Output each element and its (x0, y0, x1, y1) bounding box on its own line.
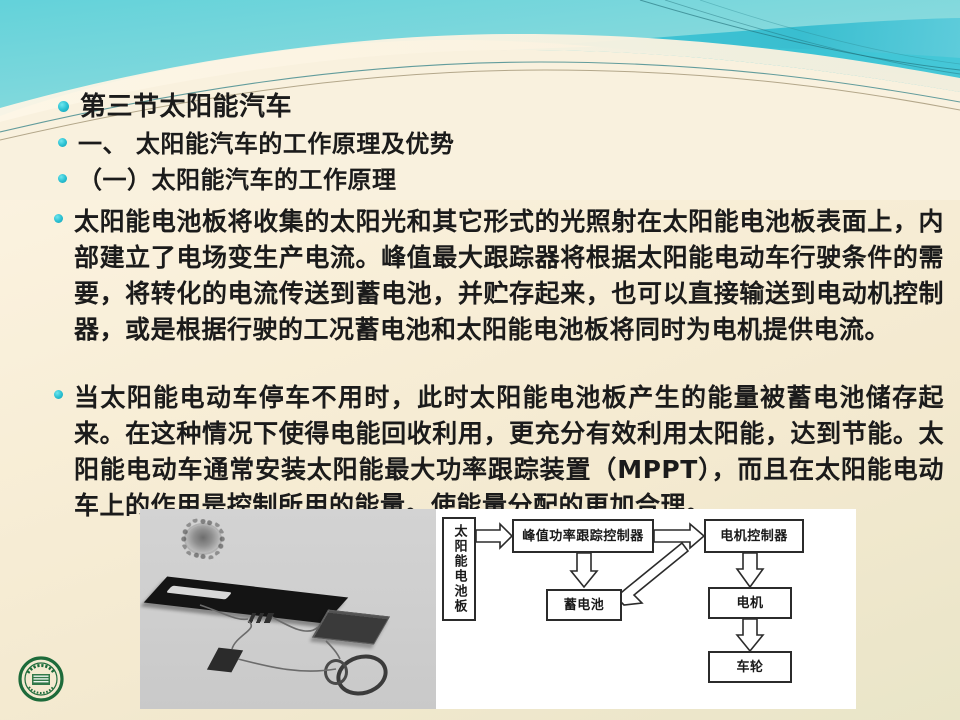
body-paragraph-1: 太阳能电池板将收集的太阳光和其它形式的光照射在太阳能电池板表面上，内部建立了电场… (74, 204, 944, 348)
title-bullet-row: 第三节太阳能汽车 (58, 90, 758, 124)
paragraph-2-bullet-row: 当太阳能电动车停车不用时，此时太阳能电池板产生的能量被蓄电池储存起来。在这种情况… (54, 380, 944, 524)
flow-node-wheel: 车轮 (708, 651, 792, 683)
bullet-dot-icon (58, 174, 67, 183)
university-seal-logo (18, 656, 64, 702)
flow-node-motor-controller: 电机控制器 (704, 519, 804, 553)
subtitle-level-1: 一、 太阳能汽车的工作原理及优势 (78, 128, 454, 160)
body-paragraph-2: 当太阳能电动车停车不用时，此时太阳能电池板产生的能量被蓄电池储存起来。在这种情况… (74, 380, 944, 524)
flow-node-solar-panel: 太阳能电池板 (442, 517, 476, 621)
page-title: 第三节太阳能汽车 (80, 90, 292, 124)
slide-content: 第三节太阳能汽车 一、 太阳能汽车的工作原理及优势 （一）太阳能汽车的工作原理 … (0, 0, 960, 720)
flow-node-battery: 蓄电池 (546, 589, 622, 621)
flow-node-motor: 电机 (708, 587, 792, 619)
bullet-dot-icon (54, 390, 63, 399)
bullet-dot-icon (58, 138, 67, 147)
subtitle-2-bullet-row: （一）太阳能汽车的工作原理 (58, 164, 918, 196)
slide-canvas: 第三节太阳能汽车 一、 太阳能汽车的工作原理及优势 （一）太阳能汽车的工作原理 … (0, 0, 960, 720)
solar-car-photo (140, 509, 436, 709)
figure-container: 太阳能电池板 峰值功率跟踪控制器 电机控制器 蓄电池 电机 车轮 (140, 509, 856, 709)
photo-wiring (140, 509, 436, 709)
paragraph-1-bullet-row: 太阳能电池板将收集的太阳光和其它形式的光照射在太阳能电池板表面上，内部建立了电场… (54, 204, 944, 348)
subtitle-1-bullet-row: 一、 太阳能汽车的工作原理及优势 (58, 128, 918, 160)
bullet-dot-icon (58, 101, 69, 112)
bullet-dot-icon (54, 214, 63, 223)
system-flowchart: 太阳能电池板 峰值功率跟踪控制器 电机控制器 蓄电池 电机 车轮 (436, 509, 856, 709)
flow-node-mppt-controller: 峰值功率跟踪控制器 (512, 519, 654, 553)
subtitle-level-2: （一）太阳能汽车的工作原理 (78, 164, 397, 196)
